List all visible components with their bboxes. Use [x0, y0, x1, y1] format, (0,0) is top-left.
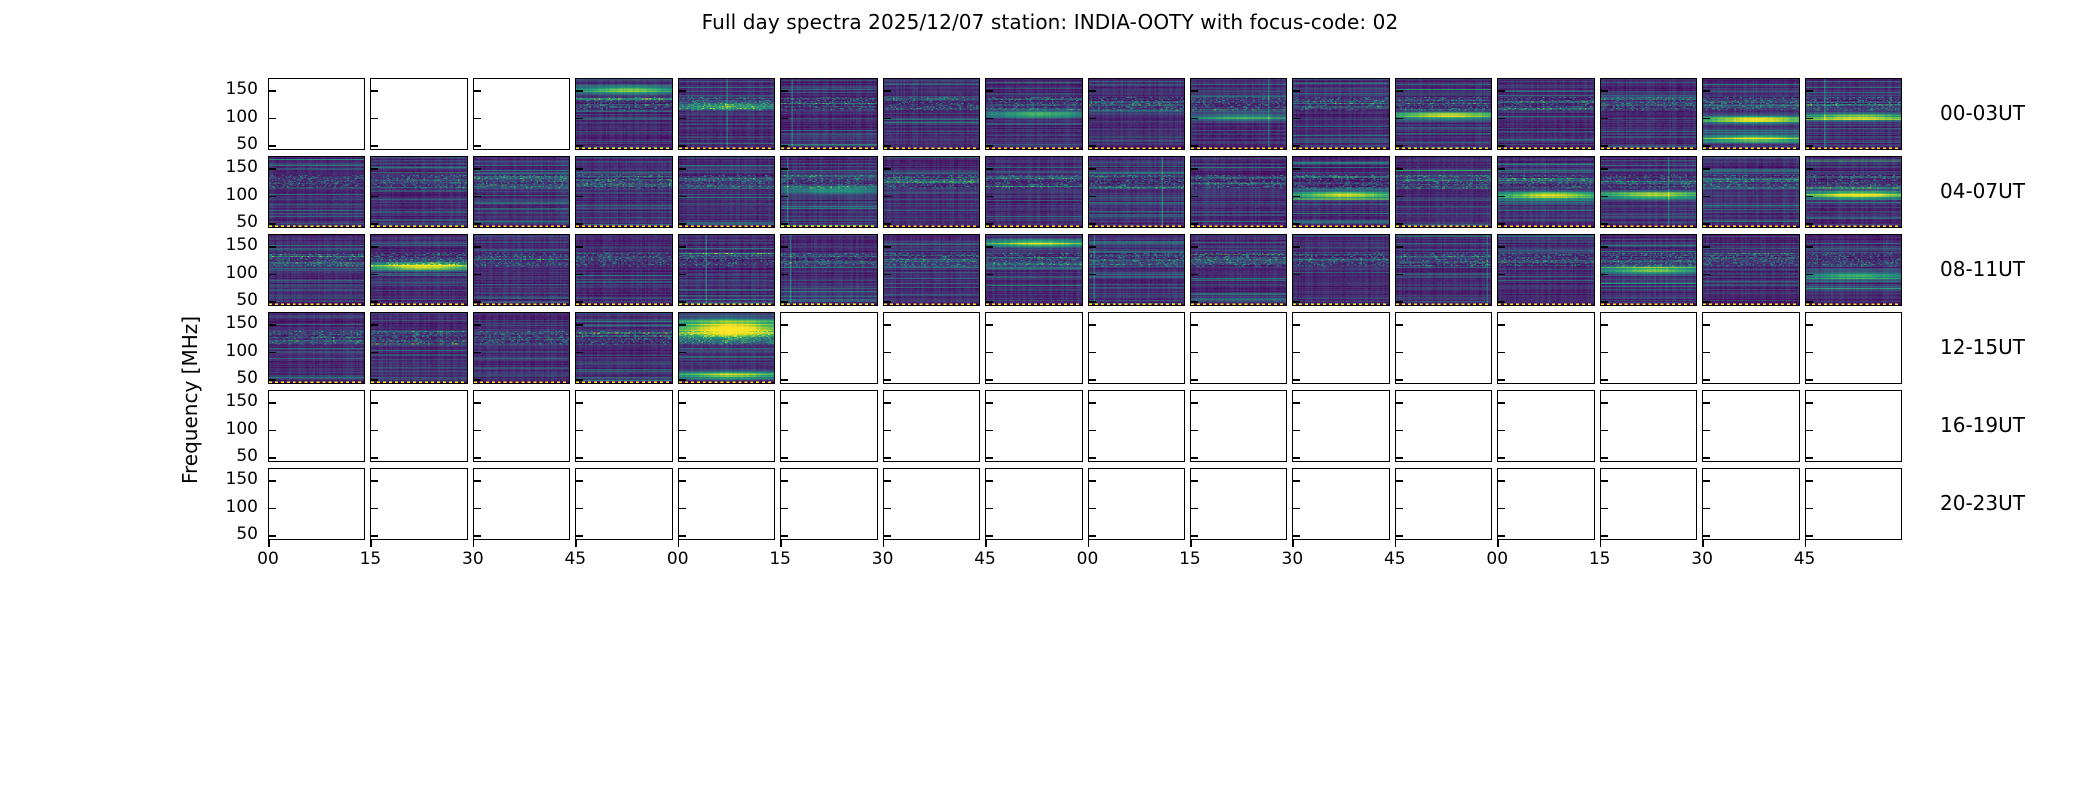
- row-time-label: 08-11UT: [1940, 257, 2025, 281]
- y-tick-mark: [1191, 324, 1198, 326]
- x-tick-mark: [883, 540, 885, 547]
- y-tick-mark: [986, 90, 993, 92]
- spectrogram-image: [474, 313, 569, 383]
- spectrogram-image: [1601, 79, 1696, 149]
- y-tick-mark: [986, 145, 993, 147]
- x-tick-mark: [1600, 540, 1602, 547]
- spectrogram-panel: [575, 468, 672, 540]
- y-tick-mark: [884, 274, 891, 276]
- spectrogram-panel: [575, 312, 672, 384]
- spectrogram-panel: [780, 234, 877, 306]
- row-time-label: 00-03UT: [1940, 101, 2025, 125]
- y-tick-mark: [269, 430, 276, 432]
- y-tick-mark: [1601, 352, 1608, 354]
- spectrogram-panel: [1088, 390, 1185, 462]
- y-tick-mark: [1806, 196, 1813, 198]
- y-tick-mark: [1089, 457, 1096, 459]
- y-tick-mark: [1089, 118, 1096, 120]
- y-tick-mark: [1089, 324, 1096, 326]
- y-tick-mark: [1601, 379, 1608, 381]
- y-tick-mark: [781, 90, 788, 92]
- y-tick-mark: [474, 402, 481, 404]
- y-tick-mark: [1498, 223, 1505, 225]
- y-tick-mark: [781, 196, 788, 198]
- spectrogram-panel: [268, 78, 365, 150]
- y-tick-mark: [1703, 324, 1710, 326]
- y-tick-mark: [1498, 457, 1505, 459]
- y-tick-mark: [1806, 274, 1813, 276]
- y-tick-mark: [576, 457, 583, 459]
- x-tick-mark: [1805, 540, 1807, 547]
- y-tick-mark: [781, 379, 788, 381]
- y-tick-text: 100: [226, 107, 258, 127]
- y-tick-mark: [474, 480, 481, 482]
- y-tick-text: 150: [226, 235, 258, 255]
- y-tick-mark: [679, 246, 686, 248]
- y-tick-mark: [781, 145, 788, 147]
- y-tick-mark: [269, 352, 276, 354]
- spectrogram-image: [371, 157, 466, 227]
- spectrogram-panel: [1805, 78, 1902, 150]
- y-tick-mark: [576, 90, 583, 92]
- spectrogram-panel: [780, 312, 877, 384]
- y-tick-mark: [781, 430, 788, 432]
- spectrogram-image: [781, 235, 876, 305]
- y-tick-mark: [1396, 480, 1403, 482]
- x-tick-mark: [268, 540, 270, 547]
- y-tick-mark: [1396, 223, 1403, 225]
- y-tick-mark: [986, 301, 993, 303]
- y-tick-mark: [474, 196, 481, 198]
- spectrogram-panel: [1395, 78, 1492, 150]
- y-tick-mark: [1396, 352, 1403, 354]
- y-tick-mark: [269, 196, 276, 198]
- spectrogram-panel: [1497, 468, 1594, 540]
- y-tick-mark: [474, 430, 481, 432]
- spectrogram-panel: [1702, 156, 1799, 228]
- y-tick-mark: [679, 352, 686, 354]
- y-tick-mark: [576, 168, 583, 170]
- y-tick-mark: [1806, 90, 1813, 92]
- spectrogram-image: [269, 235, 364, 305]
- spectrogram-panel: [575, 390, 672, 462]
- spectrogram-panel: [1088, 312, 1185, 384]
- spectrogram-panel: [370, 468, 467, 540]
- y-tick-mark: [1191, 301, 1198, 303]
- y-tick-mark: [1293, 480, 1300, 482]
- y-tick-mark: [474, 274, 481, 276]
- y-tick-mark: [884, 118, 891, 120]
- y-tick-mark: [371, 352, 378, 354]
- y-tick-mark: [1293, 535, 1300, 537]
- spectrogram-panel: [370, 390, 467, 462]
- y-tick-mark: [269, 90, 276, 92]
- y-tick-mark: [1293, 324, 1300, 326]
- x-tick-label: 00: [257, 549, 279, 569]
- spectrogram-figure: Full day spectra 2025/12/07 station: IND…: [0, 0, 2100, 800]
- spectrogram-image: [1396, 79, 1491, 149]
- y-tick-mark: [884, 480, 891, 482]
- y-tick-mark: [1498, 301, 1505, 303]
- y-tick-mark: [679, 480, 686, 482]
- y-tick-mark: [1293, 145, 1300, 147]
- spectrogram-panel: [1497, 234, 1594, 306]
- y-tick-mark: [1498, 352, 1505, 354]
- spectrogram-panel: [985, 312, 1082, 384]
- y-tick-mark: [1089, 480, 1096, 482]
- spectrogram-image: [1806, 157, 1901, 227]
- y-tick-mark: [371, 118, 378, 120]
- y-tick-mark: [884, 145, 891, 147]
- y-tick-mark: [1191, 430, 1198, 432]
- spectrogram-image: [474, 235, 569, 305]
- spectrogram-image: [1498, 157, 1593, 227]
- y-tick-mark: [269, 246, 276, 248]
- y-tick-mark: [1601, 223, 1608, 225]
- y-tick-mark: [781, 246, 788, 248]
- spectrogram-image: [1806, 79, 1901, 149]
- y-tick-mark: [371, 145, 378, 147]
- y-tick-mark: [371, 535, 378, 537]
- spectrogram-panel: [883, 468, 980, 540]
- y-tick-mark: [1191, 352, 1198, 354]
- y-tick-mark: [679, 301, 686, 303]
- y-tick-mark: [576, 196, 583, 198]
- y-tick-mark: [781, 301, 788, 303]
- y-tick-mark: [1191, 535, 1198, 537]
- spectrogram-image: [576, 235, 671, 305]
- spectrogram-image: [781, 79, 876, 149]
- row-time-label: 12-15UT: [1940, 335, 2025, 359]
- y-tick-mark: [986, 118, 993, 120]
- x-tick-mark: [780, 540, 782, 547]
- y-tick-mark: [1703, 457, 1710, 459]
- y-tick-mark: [576, 301, 583, 303]
- spectrogram-panel: [473, 468, 570, 540]
- spectrogram-image: [1293, 157, 1388, 227]
- spectrogram-image: [1806, 235, 1901, 305]
- y-tick-mark: [1806, 402, 1813, 404]
- y-tick-mark: [269, 480, 276, 482]
- x-tick-mark: [1497, 540, 1499, 547]
- spectrogram-panel: [370, 78, 467, 150]
- spectrogram-image: [1089, 157, 1184, 227]
- y-tick-mark: [1601, 324, 1608, 326]
- y-tick-mark: [474, 457, 481, 459]
- y-tick-mark: [1089, 352, 1096, 354]
- y-tick-mark: [1293, 246, 1300, 248]
- y-tick-mark: [986, 480, 993, 482]
- y-tick-mark: [371, 274, 378, 276]
- y-tick-mark: [1806, 145, 1813, 147]
- y-tick-mark: [1293, 402, 1300, 404]
- y-tick-mark: [474, 168, 481, 170]
- spectrogram-panel: [1395, 312, 1492, 384]
- y-tick-mark: [986, 535, 993, 537]
- y-tick-text: 50: [236, 212, 258, 232]
- y-tick-mark: [679, 430, 686, 432]
- spectrogram-panel: [985, 78, 1082, 150]
- y-tick-mark: [576, 352, 583, 354]
- y-tick-mark: [1191, 118, 1198, 120]
- y-tick-mark: [679, 457, 686, 459]
- y-tick-mark: [269, 274, 276, 276]
- spectrogram-panel: [883, 390, 980, 462]
- y-tick-mark: [1601, 168, 1608, 170]
- spectrogram-panel: [575, 234, 672, 306]
- y-tick-text: 150: [226, 157, 258, 177]
- y-tick-mark: [1703, 168, 1710, 170]
- spectrogram-panel: [1190, 468, 1287, 540]
- x-tick-label: 30: [1282, 549, 1304, 569]
- y-tick-mark: [1703, 145, 1710, 147]
- spectrogram-image: [679, 235, 774, 305]
- y-tick-mark: [1601, 430, 1608, 432]
- y-tick-mark: [1601, 196, 1608, 198]
- x-tick-mark: [1395, 540, 1397, 547]
- spectrogram-image: [1191, 157, 1286, 227]
- y-tick-text: 150: [226, 79, 258, 99]
- spectrogram-panel: [473, 156, 570, 228]
- spectrogram-panel: [678, 312, 775, 384]
- y-tick-mark: [986, 457, 993, 459]
- y-tick-mark: [1089, 274, 1096, 276]
- x-tick-label: 15: [360, 549, 382, 569]
- x-tick-mark: [370, 540, 372, 547]
- spectrogram-panel: [1805, 156, 1902, 228]
- y-tick-mark: [1703, 379, 1710, 381]
- x-tick-label: 45: [564, 549, 586, 569]
- y-tick-mark: [1601, 508, 1608, 510]
- row-time-label: 16-19UT: [1940, 413, 2025, 437]
- y-tick-mark: [1498, 402, 1505, 404]
- y-tick-mark: [884, 223, 891, 225]
- y-tick-mark: [1498, 118, 1505, 120]
- y-tick-mark: [679, 274, 686, 276]
- x-tick-mark: [1292, 540, 1294, 547]
- y-tick-mark: [1396, 535, 1403, 537]
- spectrogram-panel: [1805, 468, 1902, 540]
- spectrogram-panel: [1702, 468, 1799, 540]
- x-tick-mark: [1702, 540, 1704, 547]
- y-tick-mark: [1703, 430, 1710, 432]
- y-tick-mark: [1703, 246, 1710, 248]
- spectrogram-image: [1089, 79, 1184, 149]
- spectrogram-panel: [1292, 390, 1389, 462]
- y-tick-mark: [1601, 90, 1608, 92]
- y-tick-mark: [1806, 352, 1813, 354]
- spectrogram-image: [1396, 235, 1491, 305]
- y-tick-mark: [1396, 301, 1403, 303]
- x-tick-mark: [1088, 540, 1090, 547]
- y-tick-mark: [986, 246, 993, 248]
- spectrogram-panel: [1292, 234, 1389, 306]
- y-tick-mark: [474, 301, 481, 303]
- y-tick-mark: [679, 168, 686, 170]
- spectrogram-panel: [1190, 156, 1287, 228]
- spectrogram-panel: [1395, 156, 1492, 228]
- y-tick-mark: [781, 457, 788, 459]
- y-tick-mark: [1703, 508, 1710, 510]
- spectrogram-panel: [1190, 390, 1287, 462]
- y-tick-mark: [269, 508, 276, 510]
- spectrogram-panel: [883, 78, 980, 150]
- y-tick-mark: [1498, 168, 1505, 170]
- y-tick-mark: [1191, 480, 1198, 482]
- spectrogram-panel: [1497, 312, 1594, 384]
- y-tick-mark: [1498, 90, 1505, 92]
- spectrogram-image: [269, 157, 364, 227]
- y-tick-mark: [1806, 457, 1813, 459]
- y-tick-mark: [269, 168, 276, 170]
- x-tick-label: 15: [769, 549, 791, 569]
- spectrogram-panel: [1805, 234, 1902, 306]
- y-tick-mark: [371, 324, 378, 326]
- y-tick-mark: [576, 508, 583, 510]
- y-tick-mark: [1293, 223, 1300, 225]
- y-tick-mark: [1396, 457, 1403, 459]
- x-tick-mark: [575, 540, 577, 547]
- spectrogram-image: [576, 157, 671, 227]
- spectrogram-image: [1498, 79, 1593, 149]
- row-time-label: 04-07UT: [1940, 179, 2025, 203]
- spectrogram-panel: [678, 390, 775, 462]
- spectrogram-image: [781, 157, 876, 227]
- y-tick-mark: [1396, 118, 1403, 120]
- y-tick-mark: [269, 324, 276, 326]
- spectrogram-row: [268, 156, 1902, 228]
- y-tick-mark: [1089, 430, 1096, 432]
- y-tick-mark: [269, 301, 276, 303]
- y-tick-mark: [679, 402, 686, 404]
- y-tick-mark: [1191, 379, 1198, 381]
- y-tick-mark: [269, 457, 276, 459]
- figure-title: Full day spectra 2025/12/07 station: IND…: [0, 10, 2100, 34]
- spectrogram-panel: [473, 78, 570, 150]
- y-tick-text: 100: [226, 419, 258, 439]
- y-tick-mark: [884, 352, 891, 354]
- y-tick-mark: [986, 168, 993, 170]
- y-tick-mark: [679, 118, 686, 120]
- spectrogram-panel: [985, 468, 1082, 540]
- y-tick-text: 100: [226, 341, 258, 361]
- spectrogram-panel: [1805, 390, 1902, 462]
- y-tick-mark: [1293, 352, 1300, 354]
- y-tick-mark: [1498, 145, 1505, 147]
- y-tick-text: 50: [236, 290, 258, 310]
- spectrogram-panel: [1088, 468, 1185, 540]
- y-tick-mark: [884, 457, 891, 459]
- x-tick-mark: [1190, 540, 1192, 547]
- y-tick-mark: [781, 168, 788, 170]
- y-tick-mark: [1806, 480, 1813, 482]
- y-tick-mark: [1089, 145, 1096, 147]
- spectrogram-panel: [985, 390, 1082, 462]
- y-tick-mark: [1601, 402, 1608, 404]
- y-tick-mark: [1498, 246, 1505, 248]
- y-tick-mark: [1293, 90, 1300, 92]
- y-tick-mark: [576, 223, 583, 225]
- spectrogram-panel: [1702, 78, 1799, 150]
- x-tick-mark: [678, 540, 680, 547]
- y-tick-mark: [1806, 223, 1813, 225]
- spectrogram-image: [884, 79, 979, 149]
- y-tick-text: 100: [226, 185, 258, 205]
- spectrogram-image: [576, 313, 671, 383]
- y-tick-mark: [576, 535, 583, 537]
- y-tick-mark: [884, 535, 891, 537]
- x-tick-label: 30: [872, 549, 894, 569]
- spectrogram-panel: [1292, 312, 1389, 384]
- y-tick-mark: [1806, 301, 1813, 303]
- y-tick-mark: [884, 430, 891, 432]
- y-tick-mark: [371, 168, 378, 170]
- spectrogram-image: [884, 157, 979, 227]
- y-tick-mark: [679, 324, 686, 326]
- y-tick-mark: [781, 352, 788, 354]
- spectrogram-panel: [370, 156, 467, 228]
- x-axis: 00153045001530450015304500153045: [268, 540, 1902, 580]
- y-tick-mark: [1601, 246, 1608, 248]
- y-tick-mark: [1601, 457, 1608, 459]
- spectrogram-row: [268, 78, 1902, 150]
- y-axis-label: Frequency [MHz]: [178, 316, 202, 484]
- spectrogram-image: [474, 157, 569, 227]
- spectrogram-image: [1293, 235, 1388, 305]
- y-tick-mark: [781, 508, 788, 510]
- y-tick-mark: [986, 274, 993, 276]
- y-tick-mark: [474, 535, 481, 537]
- spectrogram-panel: [678, 156, 775, 228]
- y-tick-mark: [1293, 274, 1300, 276]
- y-tick-mark: [576, 118, 583, 120]
- y-tick-mark: [474, 246, 481, 248]
- spectrogram-image: [986, 157, 1081, 227]
- y-tick-mark: [1293, 430, 1300, 432]
- y-tick-mark: [474, 324, 481, 326]
- y-tick-mark: [1498, 430, 1505, 432]
- y-tick-mark: [1191, 402, 1198, 404]
- y-tick-mark: [884, 379, 891, 381]
- spectrogram-panel: [678, 78, 775, 150]
- x-tick-mark: [985, 540, 987, 547]
- spectrogram-panel: [268, 390, 365, 462]
- spectrogram-panel: [985, 234, 1082, 306]
- spectrogram-image: [1191, 79, 1286, 149]
- y-tick-text: 150: [226, 313, 258, 333]
- y-tick-mark: [986, 324, 993, 326]
- y-tick-mark: [474, 118, 481, 120]
- spectrogram-panel: [1190, 234, 1287, 306]
- y-tick-mark: [576, 402, 583, 404]
- spectrogram-panel: [1395, 468, 1492, 540]
- x-tick-label: 45: [974, 549, 996, 569]
- spectrogram-panel: [1702, 390, 1799, 462]
- y-tick-mark: [1498, 379, 1505, 381]
- y-tick-mark: [986, 379, 993, 381]
- spectrogram-panel: [268, 234, 365, 306]
- y-tick-mark: [781, 223, 788, 225]
- y-tick-mark: [269, 118, 276, 120]
- x-tick-label: 00: [1486, 549, 1508, 569]
- x-tick-mark: [473, 540, 475, 547]
- y-tick-mark: [1703, 301, 1710, 303]
- y-tick-mark: [1601, 535, 1608, 537]
- y-tick-mark: [371, 430, 378, 432]
- spectrogram-image: [1089, 235, 1184, 305]
- spectrogram-panel: [473, 390, 570, 462]
- y-tick-mark: [679, 508, 686, 510]
